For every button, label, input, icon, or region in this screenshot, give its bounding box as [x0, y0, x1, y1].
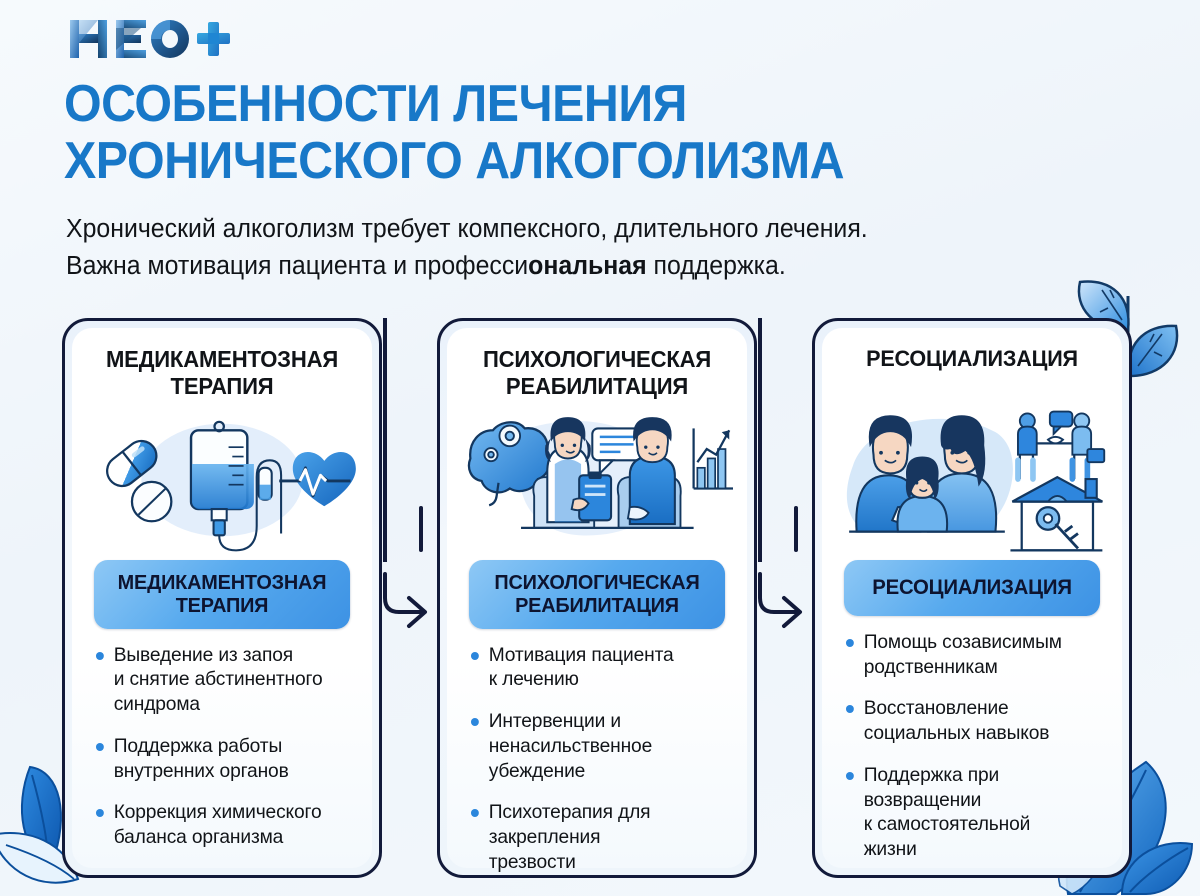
subtitle-line-2-pre: Важна мотивация пациента и професси — [66, 252, 528, 280]
list-item: Поддержка при возвращении к самостоятель… — [844, 763, 1098, 862]
list-item: Помощь созависимым родственникам — [844, 630, 1098, 680]
family-handshake-house-key-icon — [836, 406, 1108, 554]
arrow-card1-to-card2-icon — [381, 318, 441, 878]
logo-letter-e — [116, 20, 146, 58]
list-item: Поддержка работы внутренних органов — [94, 734, 348, 784]
arrow-card2-to-card3-icon — [756, 318, 816, 878]
card-medication-therapy[interactable]: МЕДИКАМЕНТОЗНАЯ ТЕРАПИЯ — [62, 318, 382, 878]
logo-letter-o — [151, 20, 189, 58]
brain-therapist-patient-chart-icon — [461, 406, 733, 554]
list-item: Выведение из запоя и снятие абстинентног… — [94, 643, 348, 717]
card-resocialization[interactable]: РЕСОЦИАЛИЗАЦИЯ — [812, 318, 1132, 878]
card-3-bullet-list: Помощь созависимым родственникам Восстан… — [836, 630, 1108, 879]
card-2-heading: ПСИХОЛОГИЧЕСКАЯ РЕАБИЛИТАЦИЯ — [466, 346, 727, 402]
list-item: Интервенции и ненасильственное убеждение — [469, 709, 723, 783]
logo-letter-n — [70, 20, 107, 58]
subtitle-line-2-post: поддержка. — [647, 252, 786, 280]
card-1-heading: МЕДИКАМЕНТОЗНАЯ ТЕРАПИЯ — [91, 346, 352, 402]
pills-iv-drip-heart-icon — [86, 406, 358, 554]
subtitle-line-1: Хронический алкоголизм требует компексно… — [66, 215, 868, 243]
card-1-pill-label[interactable]: МЕДИКАМЕНТОЗНАЯ ТЕРАПИЯ — [94, 560, 350, 629]
card-2-bullet-list: Мотивация пациента к лечению Интервенции… — [461, 643, 733, 892]
page-title: ОСОБЕННОСТИ ЛЕЧЕНИЯ ХРОНИЧЕСКОГО АЛКОГОЛ… — [64, 76, 1078, 190]
list-item: Психотерапия для закрепления трезвости — [469, 800, 723, 874]
list-item: Восстановление социальных навыков — [844, 696, 1098, 746]
card-1-bullet-list: Выведение из запоя и снятие абстинентног… — [86, 643, 358, 867]
subtitle-line-2-bold: ональная — [528, 252, 646, 280]
card-3-pill-label[interactable]: РЕСОЦИАЛИЗАЦИЯ — [844, 560, 1100, 616]
brand-logo[interactable] — [68, 16, 238, 62]
treatment-stages-rail: МЕДИКАМЕНТОЗНАЯ ТЕРАПИЯ — [0, 318, 1200, 878]
page-subtitle: Хронический алкоголизм требует компексно… — [66, 211, 1061, 284]
logo-plus-icon — [197, 22, 230, 56]
card-psychological-rehabilitation[interactable]: ПСИХОЛОГИЧЕСКАЯ РЕАБИЛИТАЦИЯ — [437, 318, 757, 878]
card-3-heading: РЕСОЦИАЛИЗАЦИЯ — [841, 346, 1102, 402]
list-item: Коррекция химического баланса организма — [94, 800, 348, 850]
list-item: Мотивация пациента к лечению — [469, 643, 723, 693]
card-2-pill-label[interactable]: ПСИХОЛОГИЧЕСКАЯ РЕАБИЛИТАЦИЯ — [469, 560, 725, 629]
